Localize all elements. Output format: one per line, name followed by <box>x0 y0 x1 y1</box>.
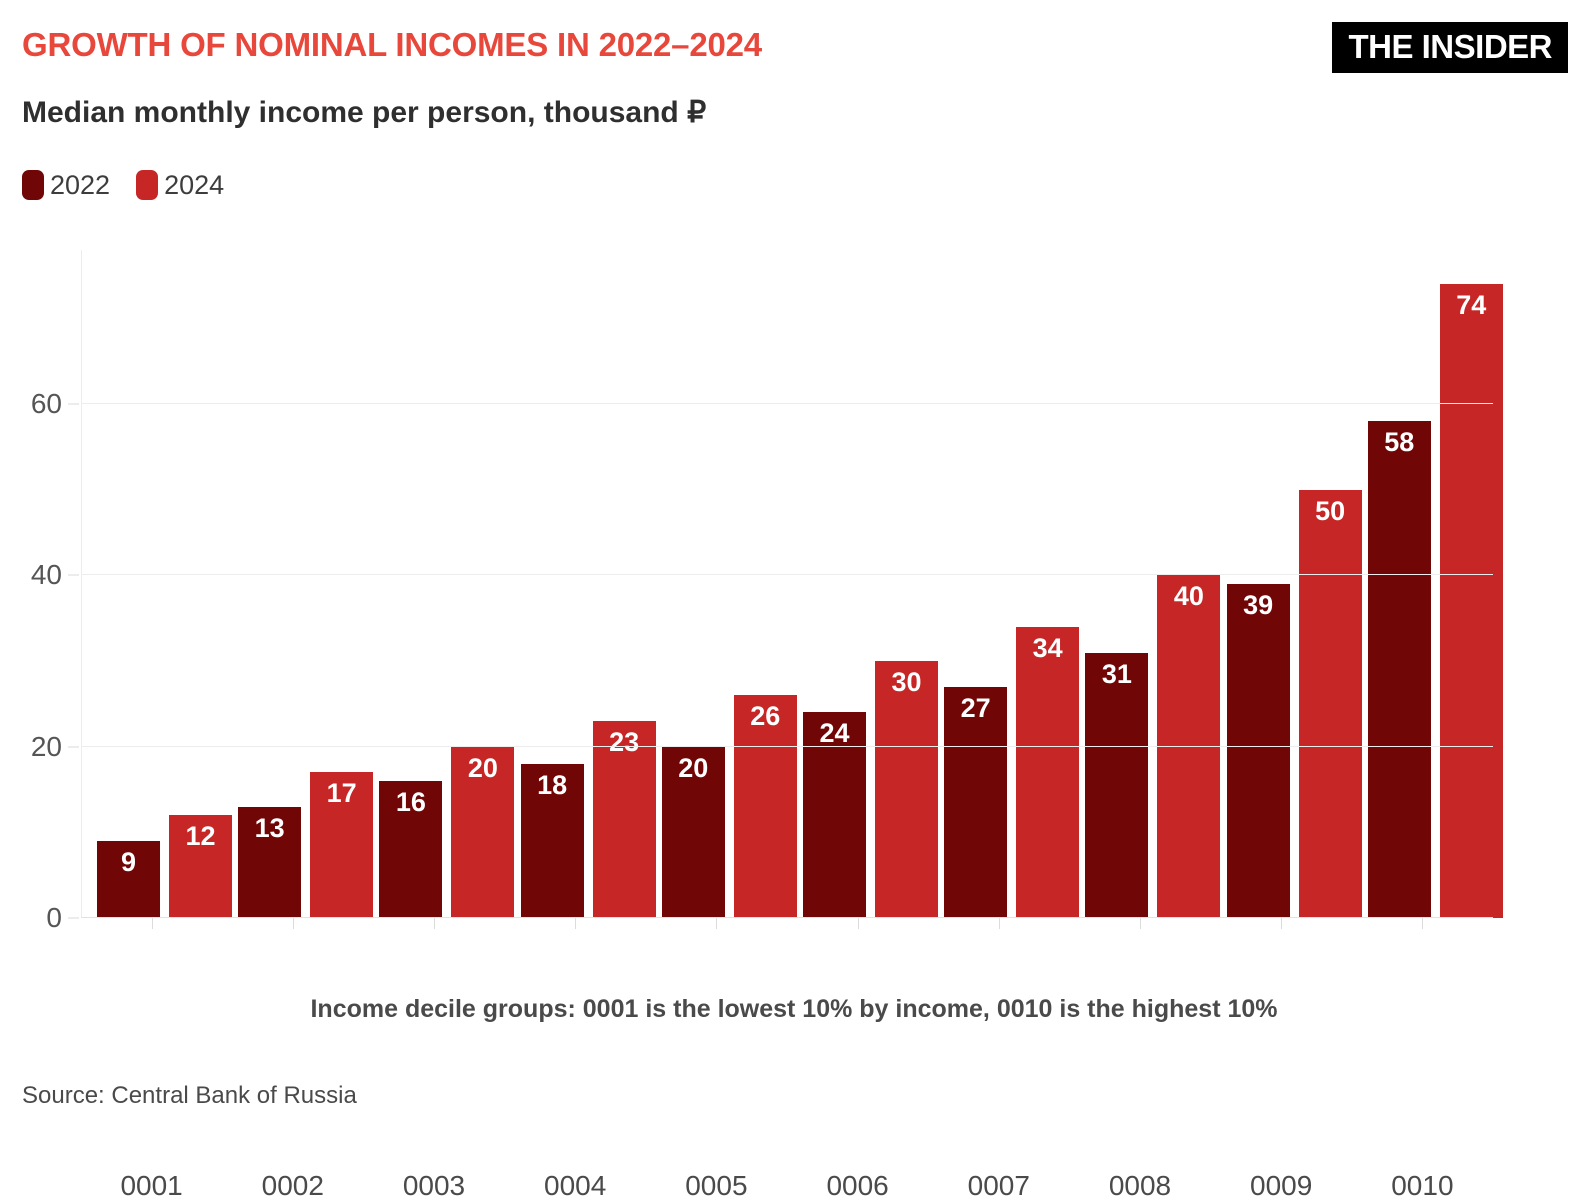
source-note: Source: Central Bank of Russia <box>22 1082 357 1110</box>
x-axis-tick-mark <box>1422 918 1423 929</box>
bar-group-0009: 3950 <box>1211 250 1352 918</box>
bar-value-label: 24 <box>803 719 866 747</box>
bar-2022-0004[interactable]: 18 <box>521 764 584 918</box>
bar-value-label: 18 <box>521 771 584 799</box>
x-axis-label-0010: 0010 <box>1322 1170 1522 1202</box>
bar-2022-0001[interactable]: 9 <box>97 841 160 918</box>
bar-groups: 912131716201823202624302734314039505874 <box>81 250 1493 918</box>
plot-canvas: 912131716201823202624302734314039505874 <box>81 250 1493 918</box>
legend-label: 2022 <box>50 172 110 199</box>
bar-2022-0002[interactable]: 13 <box>238 807 301 918</box>
bar-value-label: 20 <box>662 754 725 782</box>
brand-logo: THE INSIDER <box>1332 22 1568 73</box>
y-axis-tick-label: 20 <box>31 731 62 763</box>
chart-header: GROWTH OF NOMINAL INCOMES IN 2022–2024 M… <box>0 0 1588 150</box>
bar-2022-0006[interactable]: 24 <box>803 712 866 918</box>
bar-2022-0010[interactable]: 58 <box>1368 421 1431 918</box>
x-axis-tick-mark <box>716 918 717 929</box>
y-axis-tick-mark <box>68 918 79 919</box>
legend-item-2024[interactable]: 2024 <box>136 170 224 200</box>
page-title: GROWTH OF NOMINAL INCOMES IN 2022–2024 <box>22 26 762 64</box>
bar-value-label: 27 <box>944 694 1007 722</box>
y-axis-tick-label: 40 <box>31 559 62 591</box>
legend-swatch-icon <box>22 170 44 200</box>
bar-value-label: 74 <box>1440 291 1503 319</box>
x-axis-tick-mark <box>293 918 294 929</box>
x-axis-tick-mark <box>1140 918 1141 929</box>
x-axis-tick-mark <box>152 918 153 929</box>
y-axis-tick-mark <box>68 746 79 747</box>
gridline <box>81 574 1493 575</box>
bar-2024-0010[interactable]: 74 <box>1440 284 1503 918</box>
chart-subtitle: Median monthly income per person, thousa… <box>22 95 706 130</box>
gridline <box>81 403 1493 404</box>
gridline <box>81 746 1493 747</box>
bar-group-0006: 2430 <box>787 250 928 918</box>
bar-value-label: 39 <box>1227 591 1290 619</box>
y-axis-tick-mark <box>68 404 79 405</box>
bar-group-0010: 5874 <box>1352 250 1493 918</box>
legend-label: 2024 <box>164 172 224 199</box>
x-axis-baseline <box>81 917 1493 918</box>
bar-group-0007: 2734 <box>928 250 1069 918</box>
x-axis-tick-mark <box>575 918 576 929</box>
bar-value-label: 58 <box>1368 428 1431 456</box>
y-axis-tick-mark <box>68 575 79 576</box>
bar-group-0008: 3140 <box>1069 250 1210 918</box>
bar-2022-0008[interactable]: 31 <box>1085 653 1148 918</box>
bar-value-label: 16 <box>379 788 442 816</box>
bar-2022-0009[interactable]: 39 <box>1227 584 1290 918</box>
bar-2022-0003[interactable]: 16 <box>379 781 442 918</box>
legend-swatch-icon <box>136 170 158 200</box>
y-axis-tick-label: 60 <box>31 388 62 420</box>
bar-value-label: 31 <box>1085 660 1148 688</box>
chart-plot-area: 912131716201823202624302734314039505874 … <box>0 240 1588 940</box>
axis-caption: Income decile groups: 0001 is the lowest… <box>0 995 1588 1024</box>
x-axis-tick-mark <box>434 918 435 929</box>
bar-value-label: 13 <box>238 814 301 842</box>
x-axis-tick-mark <box>1281 918 1282 929</box>
x-axis-tick-mark <box>858 918 859 929</box>
bar-2022-0007[interactable]: 27 <box>944 687 1007 918</box>
legend-item-2022[interactable]: 2022 <box>22 170 110 200</box>
bar-2022-0005[interactable]: 20 <box>662 747 725 918</box>
x-axis-tick-mark <box>999 918 1000 929</box>
bar-group-0005: 2026 <box>646 250 787 918</box>
bar-group-0004: 1823 <box>505 250 646 918</box>
bar-group-0003: 1620 <box>363 250 504 918</box>
bar-value-label: 9 <box>97 848 160 876</box>
y-axis-tick-label: 0 <box>46 902 62 934</box>
bar-group-0001: 912 <box>81 250 222 918</box>
bar-group-0002: 1317 <box>222 250 363 918</box>
chart-legend: 20222024 <box>22 170 224 200</box>
